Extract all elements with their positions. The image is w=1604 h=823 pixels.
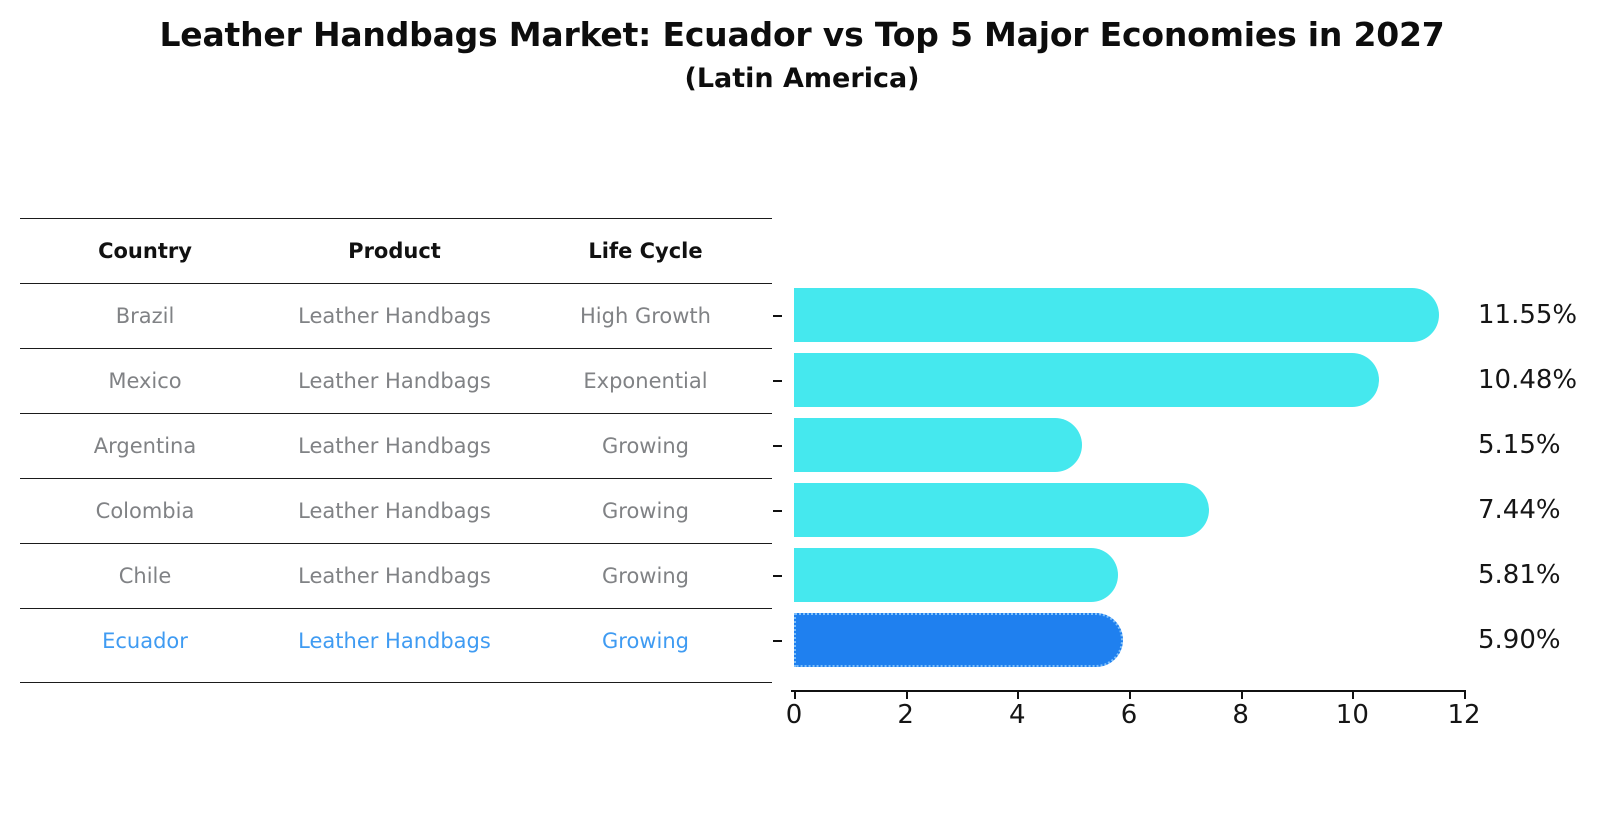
y-axis-tick: [773, 575, 782, 577]
x-axis-tick: [1017, 690, 1019, 699]
x-axis-tick: [906, 690, 908, 699]
bar-chart: 11.55%10.48%5.15%7.44%5.81%5.90%02468101…: [0, 0, 1604, 823]
bar-track: [794, 353, 1379, 407]
x-axis-tick-label: 0: [786, 700, 803, 730]
bar-chile[interactable]: [794, 548, 1118, 602]
bar-value-label: 5.90%: [1478, 625, 1561, 655]
bar-value-label: 7.44%: [1478, 495, 1561, 525]
bar-colombia[interactable]: [794, 483, 1209, 537]
bar-track: [794, 613, 1123, 667]
bar-value-label: 11.55%: [1478, 300, 1577, 330]
x-axis-tick-label: 4: [1009, 700, 1026, 730]
x-axis-tick-label: 2: [897, 700, 914, 730]
x-axis-tick: [1241, 690, 1243, 699]
x-axis-tick: [1129, 690, 1131, 699]
y-axis-tick: [773, 315, 782, 317]
y-axis-tick: [773, 445, 782, 447]
bar-value-label: 10.48%: [1478, 365, 1577, 395]
bar-track: [794, 288, 1439, 342]
x-axis-line: [791, 690, 1464, 692]
bar-track: [794, 483, 1209, 537]
x-axis-tick-label: 8: [1232, 700, 1249, 730]
bar-brazil[interactable]: [794, 288, 1439, 342]
bar-ecuador[interactable]: [794, 613, 1123, 667]
x-axis-tick: [1352, 690, 1354, 699]
x-axis-tick: [1464, 690, 1466, 699]
bar-track: [794, 548, 1118, 602]
bar-value-label: 5.15%: [1478, 430, 1561, 460]
bar-value-label: 5.81%: [1478, 560, 1561, 590]
y-axis-tick: [773, 640, 782, 642]
x-axis-tick-label: 6: [1121, 700, 1138, 730]
bar-argentina[interactable]: [794, 418, 1082, 472]
bar-track: [794, 418, 1082, 472]
bar-mexico[interactable]: [794, 353, 1379, 407]
y-axis-tick: [773, 510, 782, 512]
y-axis-tick: [773, 380, 782, 382]
x-axis-tick-label: 12: [1447, 700, 1480, 730]
x-axis-tick-label: 10: [1336, 700, 1369, 730]
x-axis-tick: [794, 690, 796, 699]
